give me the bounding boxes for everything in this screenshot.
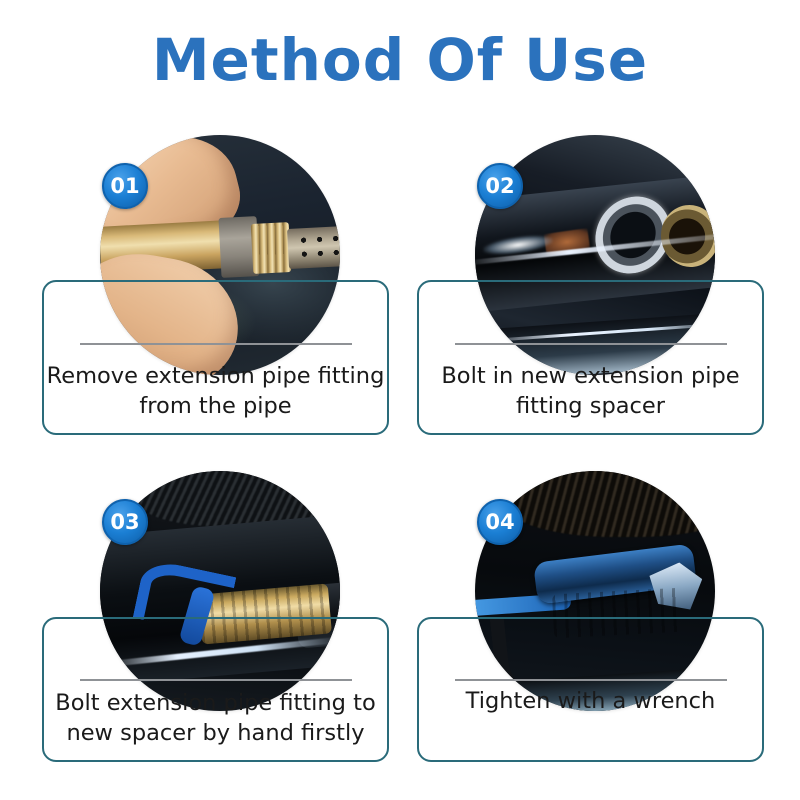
caption-card-01: Remove extension pipe fitting from the p… xyxy=(42,280,389,435)
page-title: Method Of Use xyxy=(0,26,800,94)
caption-card-02: Bolt in new extension pipe fitting space… xyxy=(417,280,764,435)
step-badge-02: 02 xyxy=(477,163,523,209)
caption-text-01: Remove extension pipe fitting from the p… xyxy=(44,361,387,433)
step-badge-01: 01 xyxy=(102,163,148,209)
caption-text-03: Bolt extension pipe fitting to new space… xyxy=(44,688,387,760)
step-badge-03: 03 xyxy=(102,499,148,545)
perforated-tip xyxy=(287,225,340,269)
method-of-use-infographic: Method Of Use 01 Remove extension pipe f… xyxy=(0,0,800,800)
undercarriage-texture xyxy=(505,471,715,537)
step-badge-04: 04 xyxy=(477,499,523,545)
caption-card-04: Tighten with a wrench xyxy=(417,617,764,762)
caption-text-02: Bolt in new extension pipe fitting space… xyxy=(419,361,762,433)
caption-text-04: Tighten with a wrench xyxy=(419,686,762,760)
threaded-section xyxy=(251,222,292,274)
caption-card-03: Bolt extension pipe fitting to new space… xyxy=(42,617,389,762)
